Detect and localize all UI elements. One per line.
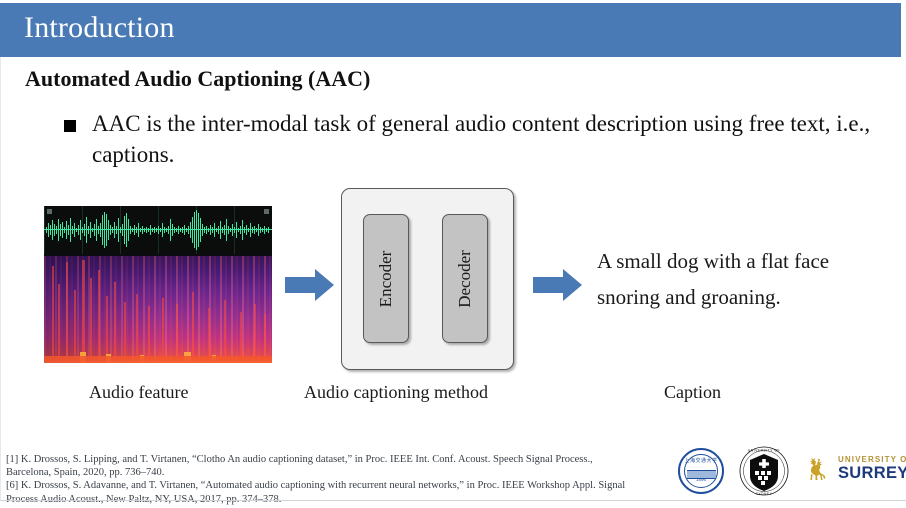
caption-output-text: A small dog with a flat face snoring and… — [597, 243, 887, 315]
spectrogram-panel — [44, 256, 272, 363]
spectrogram-energy-bands — [44, 256, 272, 363]
page-title: Introduction — [24, 11, 175, 45]
caption-line-1: A small dog with a flat face — [597, 243, 887, 279]
square-bullet-icon — [64, 120, 76, 132]
audio-feature-label: Audio feature — [89, 382, 188, 403]
sjtu-logo: 上海交通大学 1896 — [678, 448, 724, 494]
sjtu-top-text: 上海交通大学 — [680, 457, 722, 464]
decoder-label: Decoder — [455, 250, 475, 308]
svg-text:SYDNEY: SYDNEY — [756, 492, 773, 496]
decoder-box: Decoder — [442, 214, 488, 343]
waveform-corner-tick-left — [47, 209, 52, 214]
uts-logo: UNIVERSITY OF SYDNEY — [738, 446, 790, 496]
surrey-logo: UNIVERSITY OF SURREY — [804, 453, 900, 487]
caption-label: Caption — [664, 382, 721, 403]
encoder-box: Encoder — [363, 214, 409, 343]
surrey-name-text: SURREY — [838, 464, 906, 483]
audio-captioning-method-box: Encoder Decoder — [341, 188, 514, 370]
section-heading: Automated Audio Captioning (AAC) — [25, 66, 370, 92]
presentation-slide: Introduction Automated Audio Captioning … — [0, 0, 906, 508]
caption-line-2: snoring and groaning. — [597, 279, 887, 315]
slide-left-edge-rule — [0, 57, 1, 501]
logo-group: 上海交通大学 1896 UNIVERSITY OF SYDNEY — [678, 446, 900, 496]
waveform-panel — [44, 206, 272, 254]
right-arrow-icon-1 — [285, 268, 335, 302]
references-block: [1] K. Drossos, S. Lipping, and T. Virta… — [6, 453, 636, 506]
bullet-text: AAC is the inter-modal task of general a… — [92, 108, 882, 170]
sjtu-year: 1896 — [680, 477, 722, 482]
right-arrow-icon-2 — [533, 268, 583, 302]
surrey-university-of-text: UNIVERSITY OF — [838, 455, 906, 464]
slide-bottom-rule — [0, 500, 906, 501]
reference-item: [6] K. Drossos, S. Adavanne, and T. Virt… — [6, 479, 636, 505]
surrey-stag-icon — [804, 454, 834, 484]
reference-item: [1] K. Drossos, S. Lipping, and T. Virta… — [6, 453, 636, 479]
svg-text:UNIVERSITY OF: UNIVERSITY OF — [748, 448, 780, 452]
waveform-corner-tick-right — [264, 209, 269, 214]
audio-captioning-method-label: Audio captioning method — [304, 382, 488, 403]
audio-feature-image — [44, 206, 272, 363]
encoder-label: Encoder — [376, 250, 396, 307]
waveform-icon — [44, 206, 272, 254]
